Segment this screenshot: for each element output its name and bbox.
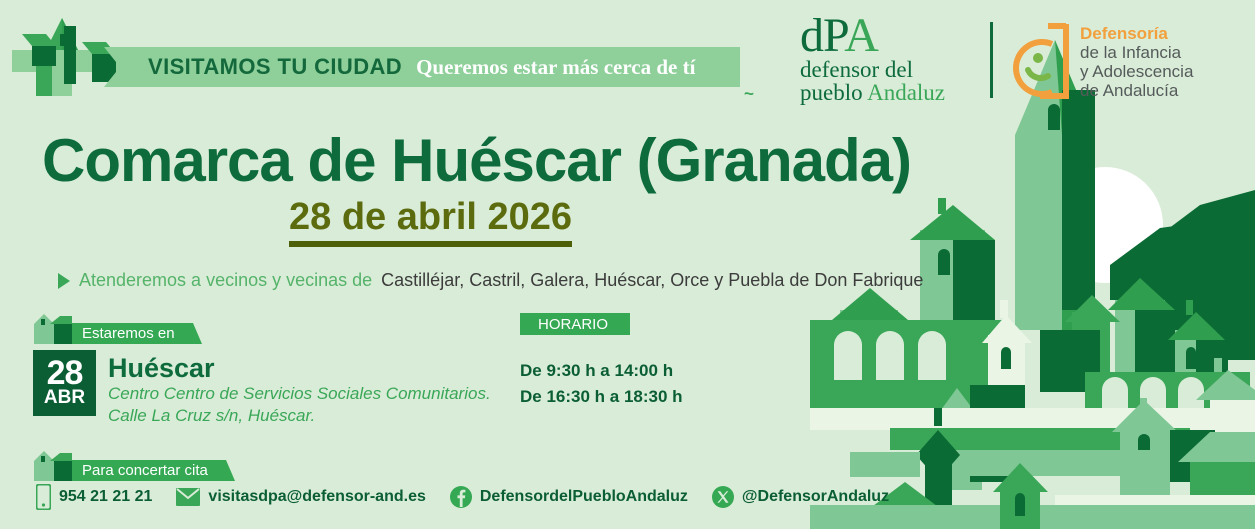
contact-phone[interactable]: 954 21 21 21 xyxy=(36,484,152,510)
contact-email[interactable]: visitasdpa@defensor-and.es xyxy=(176,488,425,506)
location-label-group: Estaremos en xyxy=(30,310,193,344)
contact-email-text: visitasdpa@defensor-and.es xyxy=(208,488,425,506)
header: VISITAMOS TU CIUDAD Queremos estar más c… xyxy=(0,0,1255,115)
location-label: Estaremos en xyxy=(56,323,193,344)
email-icon xyxy=(176,488,200,506)
dpa-line2-andaluz: Andaluz xyxy=(867,80,945,105)
house-icon xyxy=(30,310,74,344)
schedule-label: HORARIO xyxy=(520,313,630,335)
date-month: ABR xyxy=(44,388,85,408)
campaign-tagline: Queremos estar más cerca de tí xyxy=(416,55,695,80)
towns-lead-text: Atenderemos a vecinos y vecinas de xyxy=(79,270,372,291)
campaign-banner: VISITAMOS TU CIUDAD Queremos estar más c… xyxy=(120,47,740,87)
defensoria-line3: y Adolescencia xyxy=(1080,62,1193,81)
event-date: 28 de abril 2026 xyxy=(289,196,572,247)
defensoria-line1: Defensoría xyxy=(1080,24,1193,43)
page-title: Comarca de Huéscar (Granada) xyxy=(42,126,911,195)
contact-x-twitter[interactable]: @DefensorAndaluz xyxy=(712,486,889,508)
defensoria-smile-icon xyxy=(1008,18,1078,102)
triangle-bullet-icon xyxy=(58,273,70,289)
phone-icon xyxy=(36,484,51,510)
defensoria-infancia-logo: Defensoría de la Infancia y Adolescencia… xyxy=(1008,18,1248,102)
place-info: Huéscar Centro Centro de Servicios Socia… xyxy=(108,353,491,427)
poster-canvas: VISITAMOS TU CIUDAD Queremos estar más c… xyxy=(0,0,1255,529)
contact-bar: 954 21 21 21 visitasdpa@defensor-and.es … xyxy=(36,484,903,510)
contact-x-text: @DefensorAndaluz xyxy=(742,488,889,506)
place-city: Huéscar xyxy=(108,353,491,383)
dpa-line2: pueblo Andaluz xyxy=(800,81,1000,104)
facebook-icon xyxy=(450,486,472,508)
schedule-times: De 9:30 h a 14:00 h De 16:30 h a 18:30 h xyxy=(520,358,683,410)
dpa-letter-d: d xyxy=(800,9,823,62)
house-icon xyxy=(30,447,74,481)
dpa-line2-pueblo: pueblo xyxy=(800,80,867,105)
x-twitter-icon xyxy=(712,486,734,508)
contact-phone-text: 954 21 21 21 xyxy=(59,488,152,506)
defensoria-text: Defensoría de la Infancia y Adolescencia… xyxy=(1080,24,1193,100)
schedule-line-afternoon: De 16:30 h a 18:30 h xyxy=(520,384,683,410)
tilde-mark: ~ xyxy=(744,84,754,104)
dpa-line1: defensor del xyxy=(800,58,1000,81)
date-day: 28 xyxy=(47,358,83,388)
place-address-line1: Centro Centro de Servicios Sociales Comu… xyxy=(108,383,491,405)
appointment-label-group: Para concertar cita xyxy=(30,447,226,481)
logo-divider xyxy=(990,22,993,98)
schedule-line-morning: De 9:30 h a 14:00 h xyxy=(520,358,683,384)
dpa-letter-p: P xyxy=(823,9,844,62)
dpa-letter-a: A xyxy=(844,9,878,62)
appointment-label: Para concertar cita xyxy=(56,460,226,481)
place-address-line2: Calle La Cruz s/n, Huéscar. xyxy=(108,405,491,427)
defensoria-line2: de la Infancia xyxy=(1080,43,1193,62)
defensoria-line4: de Andalucía xyxy=(1080,81,1193,100)
date-badge: 28 ABR xyxy=(33,350,96,416)
dpa-monogram: dPA xyxy=(800,14,1000,58)
dpa-logo: dPA defensor del pueblo Andaluz xyxy=(800,14,1000,104)
contact-facebook[interactable]: DefensordelPuebloAndaluz xyxy=(450,486,688,508)
contact-facebook-text: DefensordelPuebloAndaluz xyxy=(480,488,688,506)
towns-line: Atenderemos a vecinos y vecinas de Casti… xyxy=(58,270,923,291)
campaign-title: VISITAMOS TU CIUDAD xyxy=(148,54,402,80)
towns-list-text: Castilléjar, Castril, Galera, Huéscar, O… xyxy=(381,270,923,291)
